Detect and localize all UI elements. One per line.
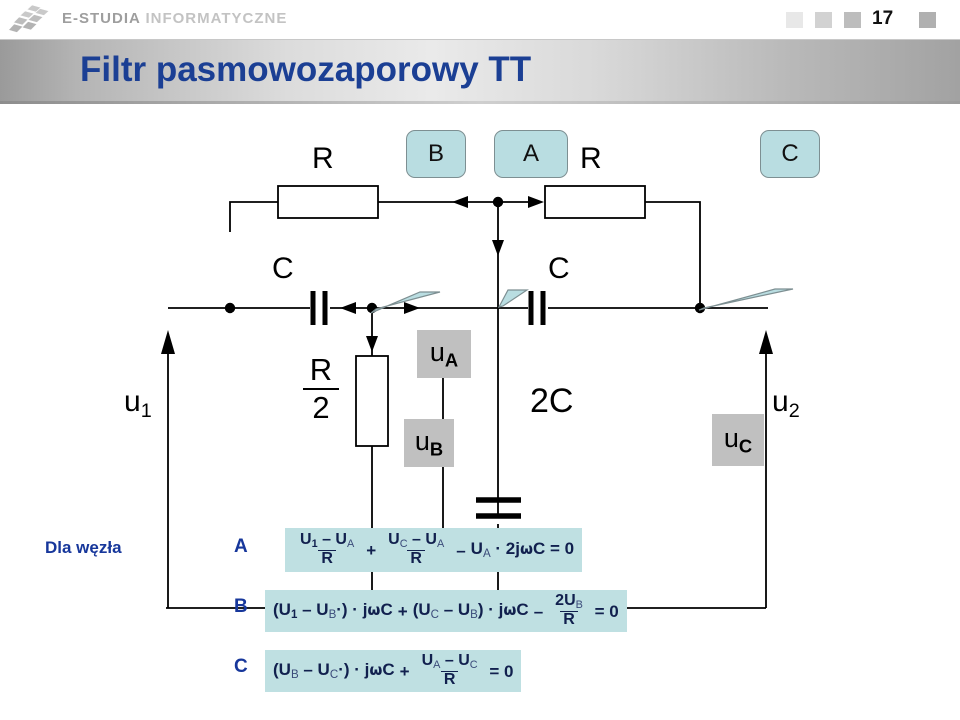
label-2c: 2C [530, 382, 573, 421]
label-u2: u2 [772, 385, 800, 423]
callout-a-label: A [523, 140, 539, 168]
circuit-diagram: R R C C 2C R 2 u1 u2 uA uB uC B [0, 104, 960, 720]
label-r-left: R [312, 142, 334, 176]
header-square-4 [919, 12, 936, 28]
page-number: 17 [872, 8, 912, 30]
capacitor-c-right [531, 291, 543, 325]
header-square-1 [786, 12, 803, 28]
uc-text: uC [724, 423, 752, 458]
header-square-3 [844, 12, 861, 28]
callout-b[interactable]: B [406, 130, 466, 178]
callout-leader-a [499, 290, 527, 307]
u2-sub: 2 [789, 400, 800, 422]
label-c-left: C [272, 252, 294, 286]
ua-text: uA [430, 337, 458, 372]
header-square-2 [815, 12, 832, 28]
u2-base: u [772, 385, 789, 418]
page-title: Filtr pasmowozaporowy TT [80, 50, 531, 90]
u1-base: u [124, 385, 141, 418]
ub-text: uB [415, 426, 443, 461]
circuit-nodes [225, 197, 705, 613]
label-ua-box: uA [417, 330, 471, 378]
slide-header: E-STUDIA INFORMATYCZNE 17 [0, 0, 960, 40]
callout-a[interactable]: A [494, 130, 568, 178]
resistor-r-left [278, 186, 378, 218]
label-u1: u1 [124, 385, 152, 423]
slide: E-STUDIA INFORMATYCZNE 17 Filtr pasmowoz… [0, 0, 960, 720]
r-half-numerator: R [303, 354, 339, 385]
r-half-denominator: 2 [303, 392, 339, 423]
callout-b-label: B [428, 140, 444, 168]
brand-bold: E-STUDIA [62, 10, 140, 27]
resistor-r-half [356, 356, 388, 446]
label-uc-box: uC [712, 414, 764, 466]
callout-c-label: C [781, 140, 798, 168]
label-c-right: C [548, 252, 570, 286]
brand-light: INFORMATYCZNE [145, 10, 287, 27]
label-r-over-2: R 2 [303, 354, 339, 423]
callout-leader-c [699, 289, 793, 310]
capacitor-c-left [313, 291, 325, 325]
u1-sub: 1 [141, 400, 152, 422]
label-r-right: R [580, 142, 602, 176]
callout-leaders [371, 289, 793, 313]
diamond-cluster-logo [8, 3, 54, 37]
callout-c[interactable]: C [760, 130, 820, 178]
resistor-r-right [545, 186, 645, 218]
label-ub-box: uB [404, 419, 454, 467]
brand-text: E-STUDIA INFORMATYCZNE [62, 10, 287, 27]
